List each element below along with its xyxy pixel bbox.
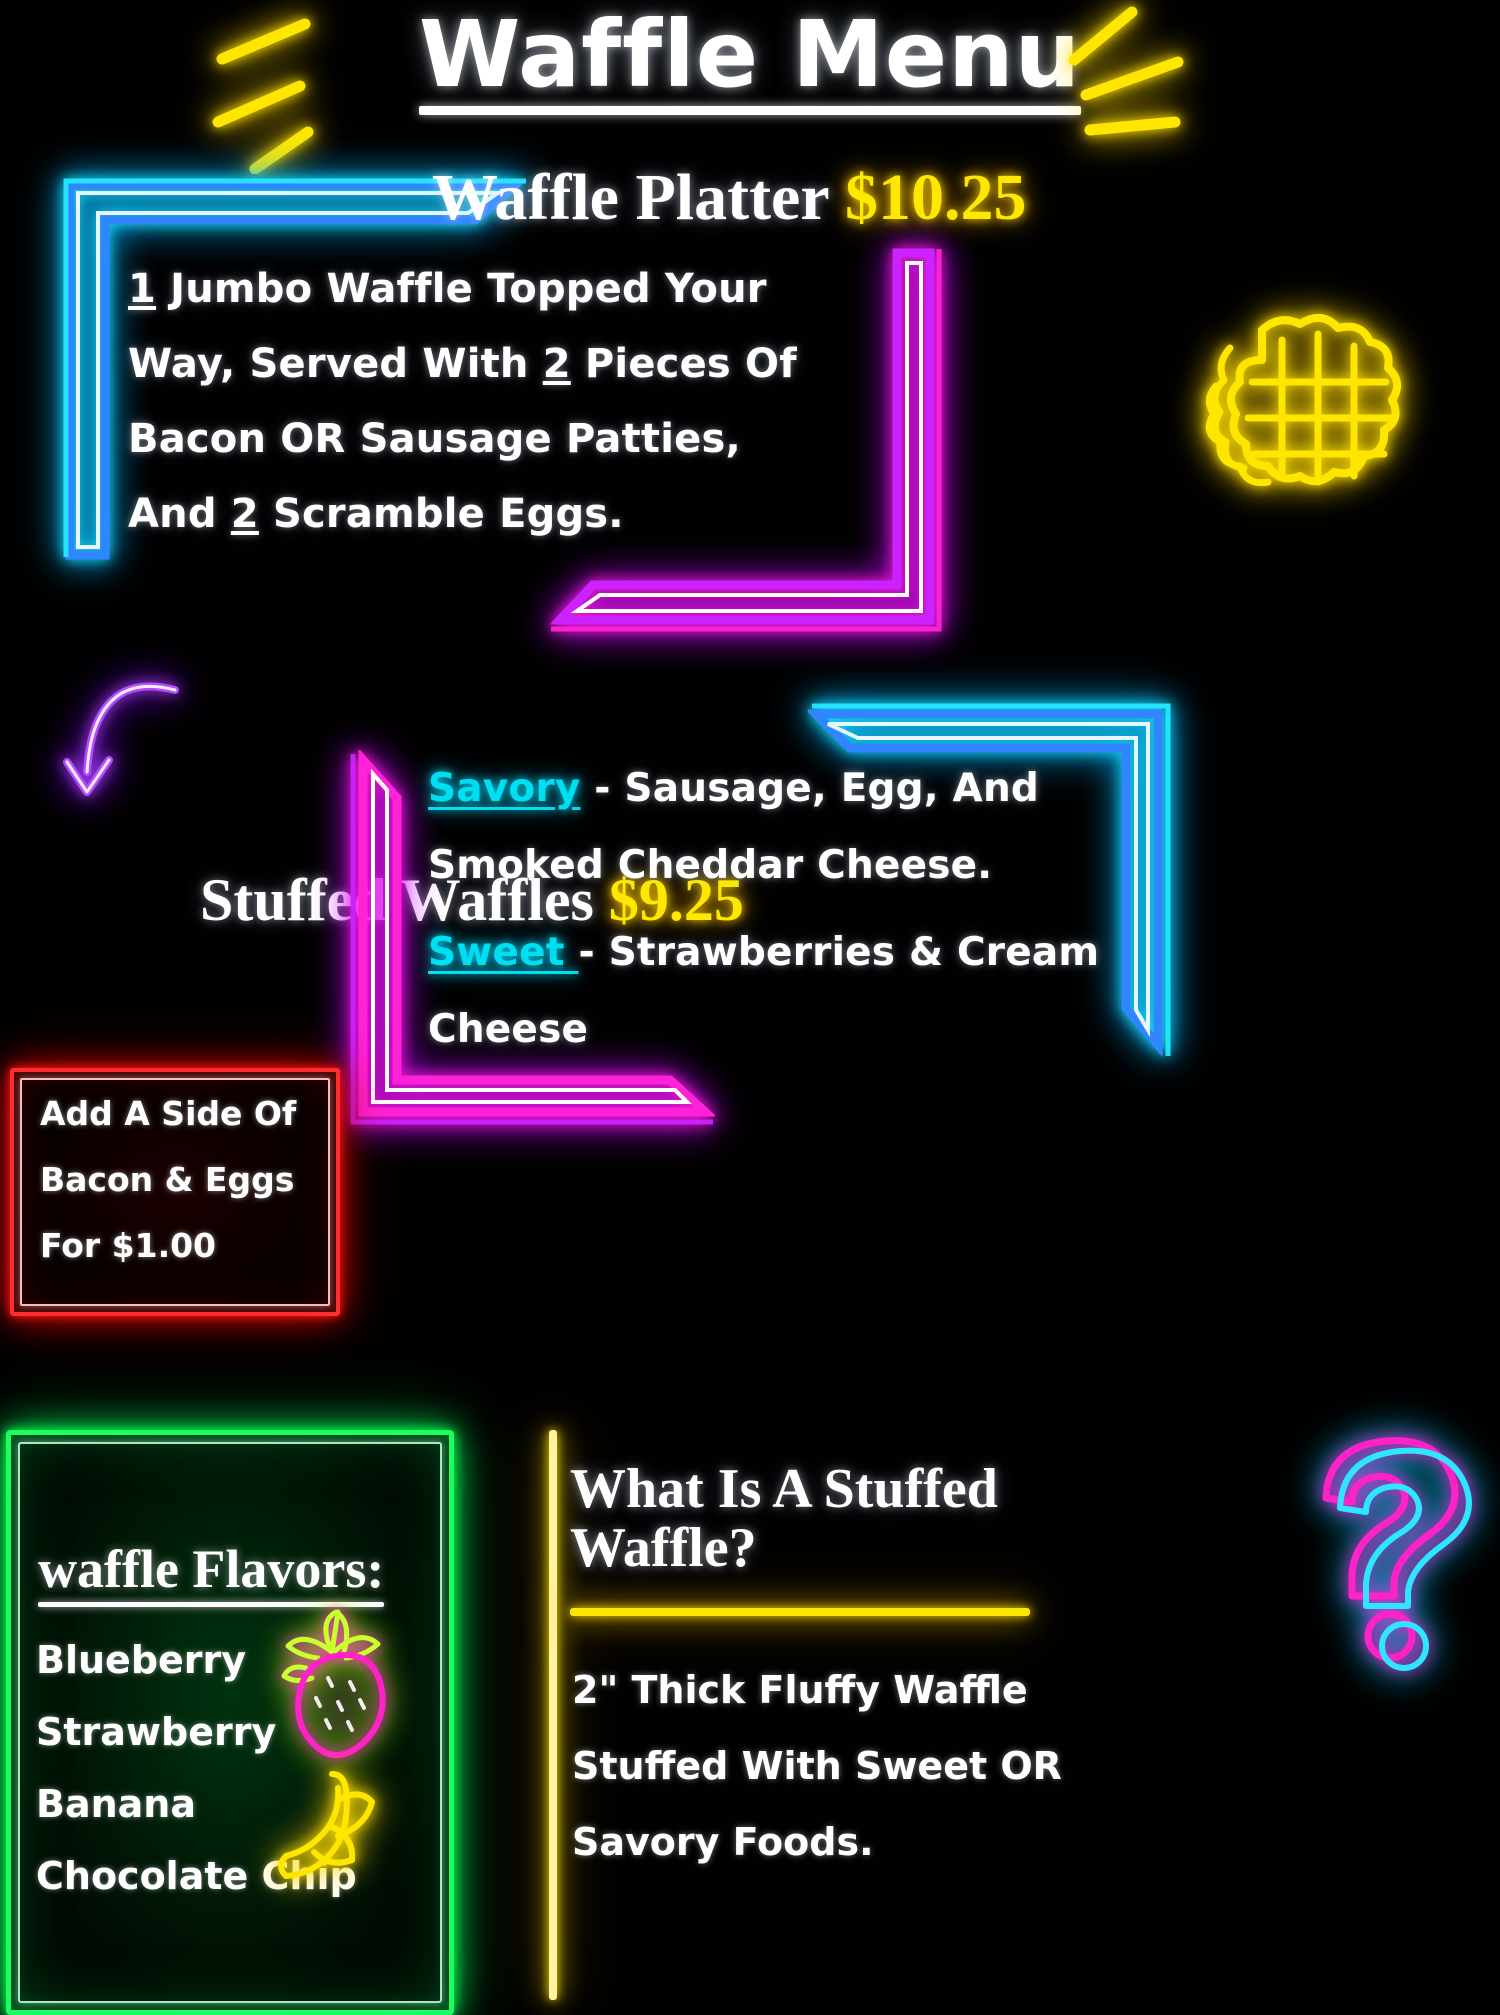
side-offer-line-3: For $1.00 — [40, 1226, 216, 1265]
stuffed-item-2-rest: - Strawberries & Cream — [578, 930, 1099, 975]
explainer-heading: What Is A Stuffed Waffle? — [570, 1460, 1040, 1579]
explainer-line-1: 2" Thick Fluffy Waffle — [572, 1668, 1028, 1712]
savory-keyword: Savory — [428, 766, 580, 811]
flavors-heading-text: waffle Flavors: — [38, 1539, 384, 1599]
stuffed-item-2-line-2: Cheese — [428, 1007, 588, 1052]
page-title-text: Waffle Menu — [419, 1, 1081, 108]
flavor-item-blueberry: Blueberry — [36, 1638, 246, 1682]
platter-line-4-post: Scramble Eggs. — [259, 491, 624, 537]
explainer-heading-line-2: Waffle? — [570, 1519, 1040, 1578]
question-mark-icon — [1290, 1422, 1490, 1672]
side-offer-line-2: Bacon & Eggs — [40, 1160, 294, 1199]
sweet-keyword: Sweet — [428, 930, 578, 975]
platter-line-2-pre: Way, Served With — [128, 341, 543, 387]
platter-heading: Waffle Platter $10.25 — [432, 160, 1026, 236]
platter-line-1: 1 Jumbo Waffle Topped Your — [128, 266, 767, 312]
platter-line-4: And 2 Scramble Eggs. — [128, 491, 624, 537]
explainer-rule — [570, 1608, 1030, 1616]
side-offer-line-1: Add A Side Of — [40, 1094, 296, 1133]
platter-line-3: Bacon OR Sausage Patties, — [128, 416, 741, 462]
stuffed-item-1-rest: - Sausage, Egg, And — [580, 766, 1039, 811]
side-offer-box: Add A Side Of Bacon & Eggs For $1.00 — [10, 1068, 340, 1316]
platter-line-4-num: 2 — [231, 491, 259, 537]
waffle-icon — [1190, 290, 1420, 540]
stuffed-item-1-line-2: Smoked Cheddar Cheese. — [428, 843, 992, 888]
platter-line-1-num: 1 — [128, 266, 156, 312]
platter-line-2-num: 2 — [543, 341, 571, 387]
explainer-line-3: Savory Foods. — [572, 1820, 874, 1864]
column-divider — [549, 1430, 557, 2000]
platter-heading-text: Waffle Platter — [432, 161, 828, 234]
explainer-heading-line-1: What Is A Stuffed — [570, 1460, 1040, 1519]
stuffed-item-1-line-1: Savory - Sausage, Egg, And — [428, 766, 1039, 811]
platter-price: $10.25 — [845, 161, 1027, 234]
sparkle-left-icon — [200, 4, 330, 174]
sparkle-right-icon — [1060, 0, 1200, 150]
platter-line-2: Way, Served With 2 Pieces Of — [128, 341, 797, 387]
stuffed-item-2-line-1: Sweet - Strawberries & Cream — [428, 930, 1099, 975]
strawberry-icon — [272, 1600, 402, 1760]
flavors-heading: waffle Flavors: — [38, 1538, 384, 1607]
platter-line-2-post: Pieces Of — [571, 341, 797, 387]
page-title: Waffle Menu — [401, 8, 1099, 121]
flavor-item-strawberry: Strawberry — [36, 1710, 276, 1754]
platter-line-4-pre: And — [128, 491, 231, 537]
curved-arrow-down-icon — [55, 670, 195, 810]
platter-line-1-post: Jumbo Waffle Topped Your — [156, 266, 767, 312]
banana-icon — [268, 1760, 398, 1890]
flavor-item-banana: Banana — [36, 1782, 196, 1826]
explainer-line-2: Stuffed With Sweet OR — [572, 1744, 1062, 1788]
